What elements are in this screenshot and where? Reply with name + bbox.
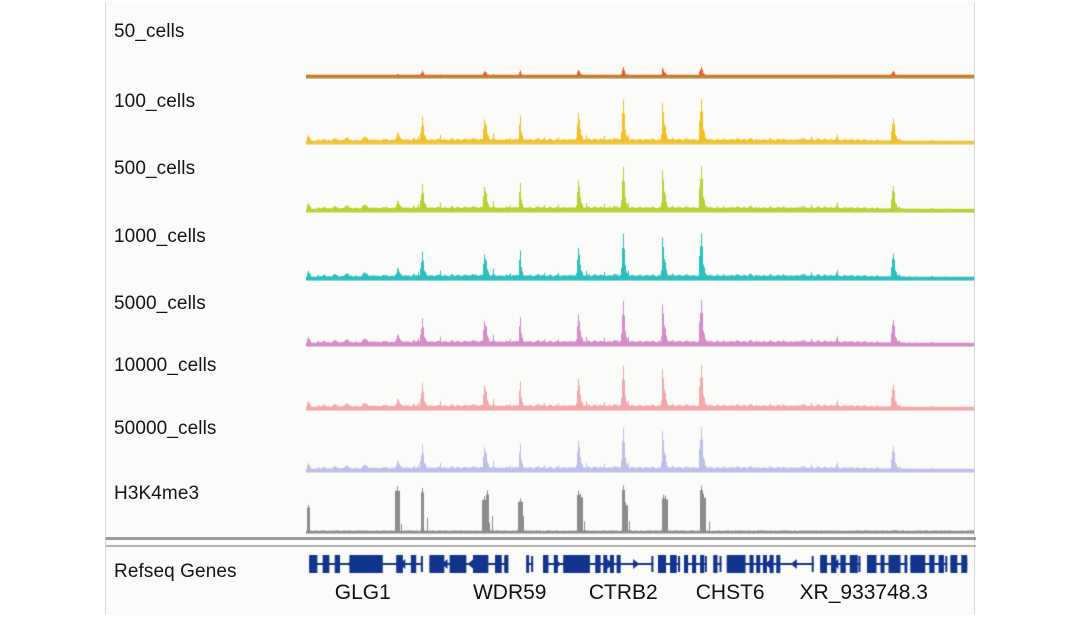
signal-canvas [306, 415, 974, 473]
track-label: 50000_cells [114, 418, 217, 440]
gene-name-row: GLG1WDR59CTRB2CHST6XR_933748.3 [306, 581, 974, 611]
separator-line [106, 545, 976, 547]
track-label: 1000_cells [114, 226, 206, 248]
signal-canvas [306, 353, 974, 411]
gene-name-label: XR_933748.3 [800, 581, 928, 605]
track-signal-plot [306, 223, 974, 281]
track-signal-plot [306, 415, 974, 473]
browser-panel: 50_cells100_cells500_cells1000_cells5000… [105, 3, 975, 615]
track-label: 5000_cells [114, 293, 206, 315]
gene-name-label: CHST6 [696, 581, 765, 605]
signal-canvas [306, 223, 974, 281]
track-label: 10000_cells [114, 355, 217, 377]
gene-model-canvas [306, 551, 974, 577]
signal-canvas [306, 87, 974, 145]
signal-canvas [306, 155, 974, 213]
track-label: 100_cells [114, 91, 195, 113]
track-signal-plot [306, 33, 974, 79]
figure-root: 50_cells100_cells500_cells1000_cells5000… [0, 0, 1080, 621]
gene-name-label: GLG1 [335, 581, 391, 605]
track-signal-plot [306, 87, 974, 145]
track-signal-plot [306, 353, 974, 411]
track-signal-plot [306, 481, 974, 535]
gene-name-label: CTRB2 [589, 581, 658, 605]
track-label: H3K4me3 [114, 483, 199, 505]
signal-canvas [306, 289, 974, 347]
gene-track-label: Refseq Genes [114, 561, 237, 583]
track-label: 50_cells [114, 21, 185, 43]
track-signal-plot [306, 155, 974, 213]
gene-models [306, 551, 974, 577]
gene-name-label: WDR59 [473, 581, 547, 605]
track-label: 500_cells [114, 158, 195, 180]
signal-canvas [306, 33, 974, 79]
signal-canvas [306, 481, 974, 535]
track-signal-plot [306, 289, 974, 347]
separator-line [106, 537, 976, 540]
